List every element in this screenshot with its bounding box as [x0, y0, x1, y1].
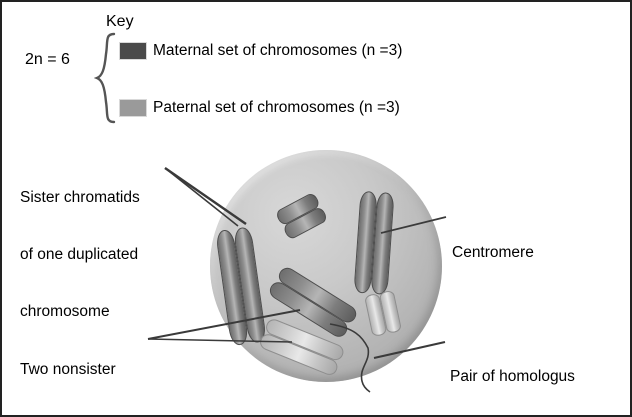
- label-centromere: Centromere: [452, 205, 534, 300]
- paternal-swatch: [119, 99, 147, 117]
- key-title: Key: [106, 12, 134, 31]
- key-paternal-label: Paternal set of chromosomes (n =3): [153, 98, 400, 117]
- key-maternal-label: Maternal set of chromosomes (n =3): [153, 41, 402, 60]
- label-line: chromosome: [20, 302, 140, 321]
- label-line: Sister chromatids: [20, 188, 140, 207]
- label-nonsister-chromatids: Two nonsister chromatids in a homologous…: [20, 322, 135, 417]
- label-line: Centromere: [452, 243, 534, 262]
- chromosome-long-right: [352, 191, 399, 296]
- curly-brace-icon: [94, 32, 116, 124]
- homologous-pair-bracket: [328, 318, 384, 394]
- maternal-swatch: [119, 42, 147, 60]
- label-line: Pair of homologus: [450, 367, 584, 386]
- label-line: Two nonsister: [20, 360, 135, 379]
- figure-panel: Key 2n = 6 Maternal set of chromosomes (…: [0, 0, 632, 417]
- cell-diagram: [210, 150, 442, 382]
- label-line: of one duplicated: [20, 245, 140, 264]
- label-homologous-pair: Pair of homologus chromosomes (one from …: [450, 329, 584, 417]
- diploid-number-label: 2n = 6: [25, 50, 70, 69]
